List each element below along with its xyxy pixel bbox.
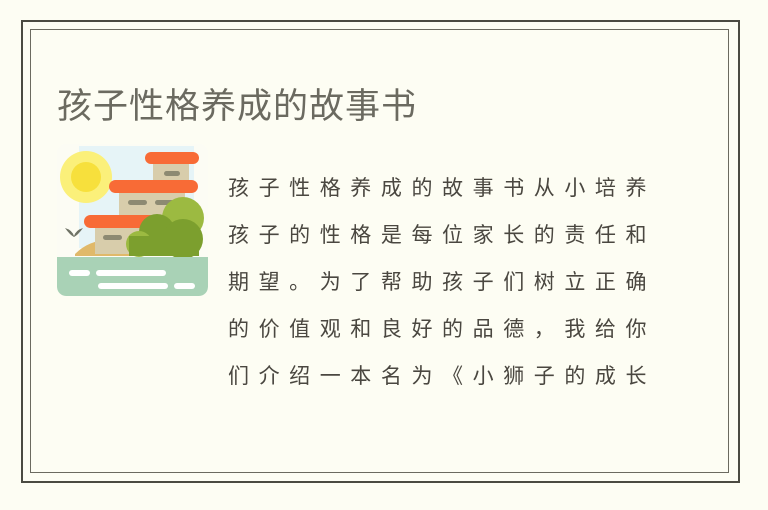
building-bottom-window (103, 235, 122, 240)
tree-base-band (129, 236, 199, 256)
sun-core-icon (71, 162, 101, 192)
building-middle-roof (109, 180, 198, 193)
wave-dash-3 (98, 283, 168, 289)
body-line: 期望。为了帮助孩子们树立正确 (228, 259, 647, 306)
wave-dash-4 (174, 283, 195, 289)
body-line: 孩子性格养成的故事书从小培养 (228, 165, 647, 212)
article-illustration (57, 144, 208, 296)
body-line: 的价值观和良好的品德，我给你 (228, 306, 647, 353)
wave-dash-2 (96, 270, 166, 276)
landscape-illustration-svg (57, 144, 208, 296)
article-paragraph: 孩子性格养成的故事书从小培养 孩子的性格是每位家长的责任和 期望。为了帮助孩子们… (228, 165, 647, 400)
wave-dash-1 (69, 270, 90, 276)
body-line: 们介绍一本名为《小狮子的成长 (228, 353, 647, 400)
building-top-window (164, 171, 180, 176)
building-top-roof (145, 152, 199, 164)
building-middle-window-left (128, 200, 147, 205)
page-canvas: 孩子性格养成的故事书 (0, 0, 768, 510)
body-line: 孩子的性格是每位家长的责任和 (228, 212, 647, 259)
water-band (57, 257, 208, 296)
page-title: 孩子性格养成的故事书 (57, 84, 417, 130)
